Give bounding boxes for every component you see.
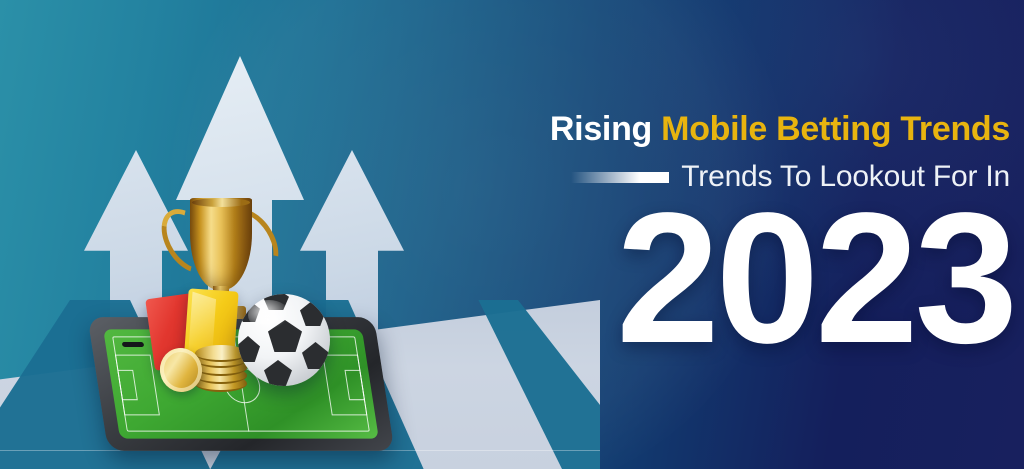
headline-gold-part: Mobile Betting Trends xyxy=(661,110,1010,148)
banner-root: Rising Mobile Betting Trends Trends To L… xyxy=(0,0,1024,469)
headline: Rising Mobile Betting Trends xyxy=(550,110,1010,149)
copy-block: Rising Mobile Betting Trends Trends To L… xyxy=(0,0,1024,469)
year-label: 2023 xyxy=(616,186,1014,372)
headline-white-part: Rising xyxy=(550,110,661,148)
